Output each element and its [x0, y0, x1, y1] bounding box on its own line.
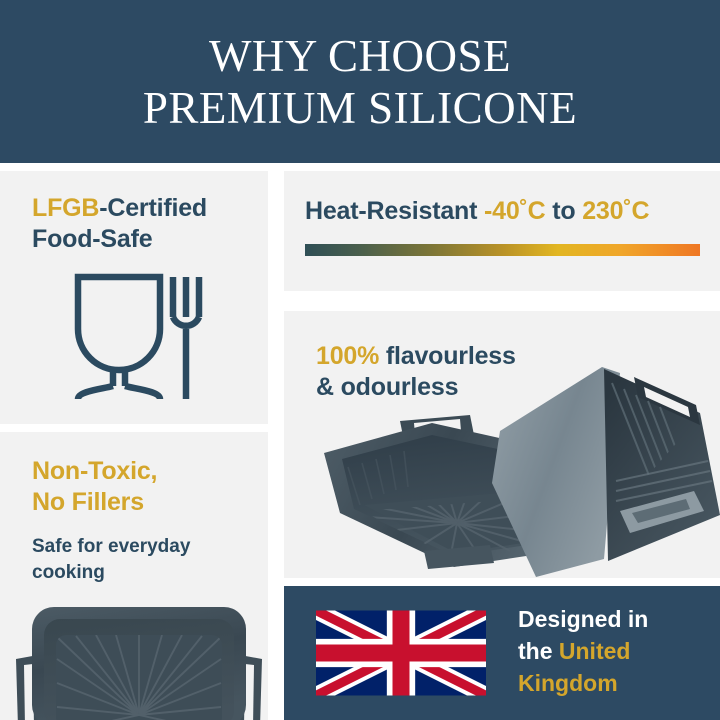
flavourless-highlight: 100%	[316, 342, 379, 370]
heat-label: Heat-Resistant	[305, 197, 477, 225]
lfgb-title-line-2: Food-Safe	[32, 225, 152, 253]
flavourless-title-line-2: & odourless	[316, 373, 458, 401]
non-toxic-title: Non-Toxic, No Fillers	[32, 456, 252, 518]
panel-flavourless-odourless: 100% flavourless & odourless	[284, 311, 720, 578]
non-toxic-subtitle-line-2: cooking	[32, 562, 105, 583]
designed-in-uk-text: Designed in the United Kingdom	[518, 603, 708, 699]
panel-non-toxic: Non-Toxic, No Fillers Safe for everyday …	[0, 432, 268, 720]
panel-lfgb-certified: LFGB-Certified Food-Safe	[0, 171, 268, 424]
heat-max-temp: 230˚C	[582, 197, 649, 225]
flavourless-title-rest: flavourless	[379, 342, 516, 370]
heat-resistant-title: Heat-Resistant -40˚C to 230˚C	[305, 196, 649, 227]
non-toxic-subtitle: Safe for everyday cooking	[32, 534, 257, 586]
heat-conjunction: to	[546, 197, 583, 225]
lfgb-title: LFGB-Certified Food-Safe	[32, 193, 262, 255]
uk-line-1: Designed in	[518, 606, 648, 632]
temperature-gradient-bar	[305, 244, 700, 256]
flavourless-title: 100% flavourless & odourless	[316, 341, 616, 403]
non-toxic-title-line-2: No Fillers	[32, 488, 144, 516]
page-title-line-2: PREMIUM SILICONE	[143, 82, 577, 134]
panel-designed-in-uk: Designed in the United Kingdom	[284, 586, 720, 720]
page-title-line-1: WHY CHOOSE	[209, 30, 511, 82]
union-jack-flag	[316, 608, 486, 698]
lfgb-title-rest: -Certified	[99, 194, 207, 222]
uk-line-2-white: the	[518, 638, 559, 664]
glass-and-fork-food-safe-icon	[66, 271, 206, 406]
uk-line-2-gold: United	[559, 638, 631, 664]
non-toxic-subtitle-line-1: Safe for everyday	[32, 536, 190, 557]
page-header: WHY CHOOSE PREMIUM SILICONE	[0, 0, 720, 163]
uk-line-3-gold: Kingdom	[518, 670, 618, 696]
panel-heat-resistant: Heat-Resistant -40˚C to 230˚C	[284, 171, 720, 291]
silicone-tray-top-view-photo	[8, 587, 268, 720]
non-toxic-title-line-1: Non-Toxic,	[32, 457, 157, 485]
heat-min-temp: -40˚C	[484, 197, 546, 225]
lfgb-highlight: LFGB	[32, 194, 99, 222]
